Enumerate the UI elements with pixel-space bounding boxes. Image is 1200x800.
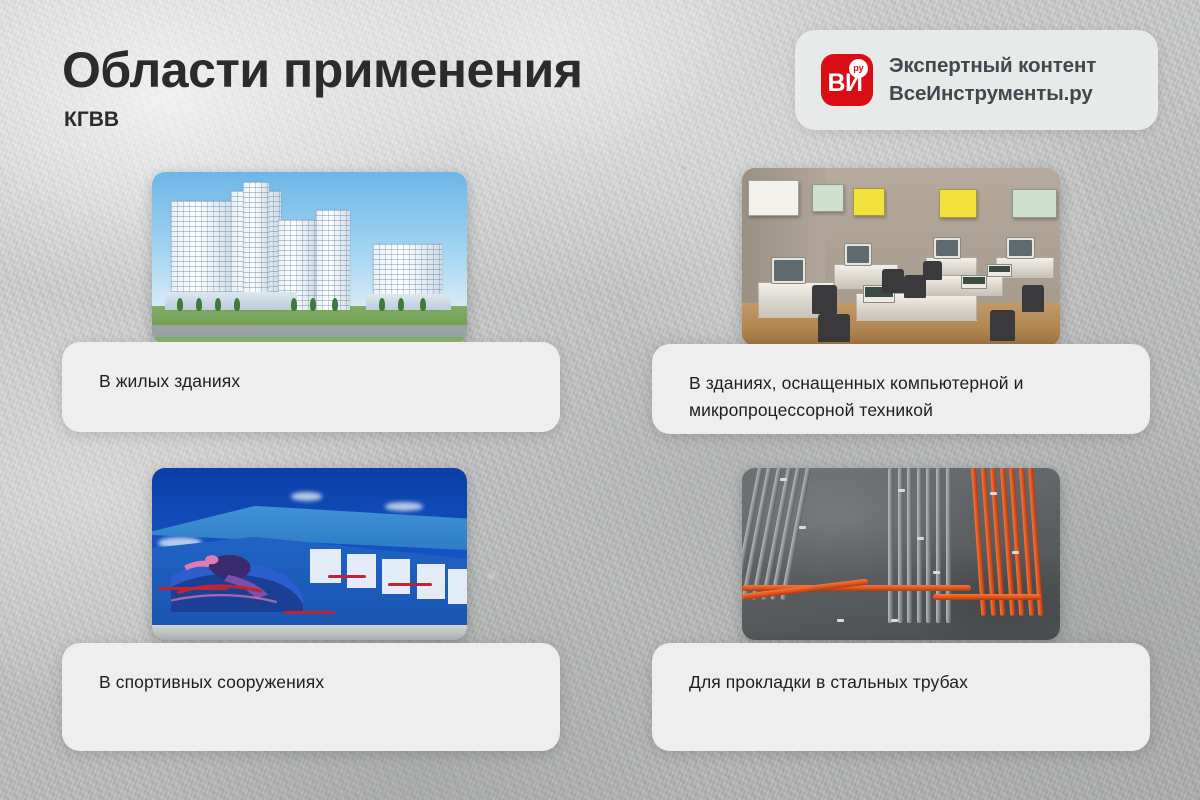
chair xyxy=(1022,285,1044,312)
road xyxy=(152,325,467,337)
window xyxy=(417,564,445,598)
laptop xyxy=(961,275,986,289)
wall-poster xyxy=(1012,189,1057,217)
pipe-clamp xyxy=(780,478,787,481)
pipe-clamp xyxy=(917,537,924,540)
tree xyxy=(310,298,316,311)
pipe-clamp xyxy=(891,619,898,622)
red-stripe xyxy=(158,587,227,590)
tree xyxy=(196,298,202,311)
red-stripe xyxy=(284,611,334,614)
cloud xyxy=(291,492,323,501)
residential-scene xyxy=(152,172,467,344)
caption-card-pipes: Для прокладки в стальных трубах xyxy=(652,643,1150,751)
caption-text: В зданиях, оснащенных компьютерной и мик… xyxy=(689,370,1116,424)
monitor xyxy=(1006,237,1035,258)
tree xyxy=(291,298,297,311)
tree xyxy=(332,298,338,311)
grey-conduit xyxy=(926,468,931,623)
chair xyxy=(923,261,942,281)
tree xyxy=(379,298,385,311)
caption-text: Для прокладки в стальных трубах xyxy=(689,669,1116,696)
orange-conduit-horizontal xyxy=(933,594,1041,600)
pipe-clamp xyxy=(990,492,997,495)
tower-4 xyxy=(316,210,351,310)
pipe-clamp xyxy=(933,571,940,574)
pipe-clamp xyxy=(837,619,844,622)
grey-conduit xyxy=(888,468,893,623)
window xyxy=(347,554,375,588)
caption-card-residential: В жилых зданиях xyxy=(62,342,560,432)
monitor xyxy=(933,237,962,258)
computer-classroom-photo xyxy=(742,168,1060,346)
caption-card-computers: В зданиях, оснащенных компьютерной и мик… xyxy=(652,344,1150,434)
caption-text: В жилых зданиях xyxy=(99,368,526,395)
podium-left xyxy=(165,292,297,309)
pipe-clamp xyxy=(898,489,905,492)
red-stripe xyxy=(328,575,366,578)
red-stripe xyxy=(388,583,432,586)
laptop xyxy=(987,264,1012,276)
conduits-scene xyxy=(742,468,1060,640)
swimmer-mural-icon xyxy=(171,537,303,613)
classroom-scene xyxy=(742,168,1060,346)
cloud xyxy=(385,502,423,511)
grey-conduit xyxy=(936,468,941,623)
grey-conduit xyxy=(946,468,951,623)
swimmer-mural xyxy=(171,537,303,613)
chair xyxy=(882,269,904,292)
monitor xyxy=(844,243,873,266)
wall-poster xyxy=(939,189,977,217)
sports-scene xyxy=(152,468,467,640)
pipe-clamp xyxy=(1012,551,1019,554)
tower-roofbox xyxy=(243,182,268,309)
monitor xyxy=(771,257,806,284)
wall-poster xyxy=(853,188,885,216)
card-computers: В зданиях, оснащенных компьютерной и мик… xyxy=(600,0,1200,440)
caption-text: В спортивных сооружениях xyxy=(99,669,526,696)
residential-high-rise-buildings-photo xyxy=(152,172,467,344)
tree xyxy=(234,298,240,311)
wall-poster xyxy=(812,184,844,212)
chair xyxy=(990,310,1015,340)
tree xyxy=(398,298,404,311)
grey-conduit xyxy=(917,468,922,623)
wall-poster xyxy=(748,180,799,216)
slide-canvas: Области применения КГВВ ВИ ру Экспертный… xyxy=(0,0,1200,800)
tree xyxy=(177,298,183,311)
tree xyxy=(420,298,426,311)
chair xyxy=(812,285,837,313)
window xyxy=(382,559,410,593)
sports-complex-photo xyxy=(152,468,467,640)
window xyxy=(310,549,342,583)
ground xyxy=(152,625,467,640)
card-residential: В жилых зданиях xyxy=(0,0,600,440)
caption-card-sports: В спортивных сооружениях xyxy=(62,643,560,751)
chair xyxy=(818,314,850,342)
ceiling-conduits-photo xyxy=(742,468,1060,640)
grey-conduit xyxy=(907,468,912,623)
tree xyxy=(215,298,221,311)
window xyxy=(448,569,467,603)
